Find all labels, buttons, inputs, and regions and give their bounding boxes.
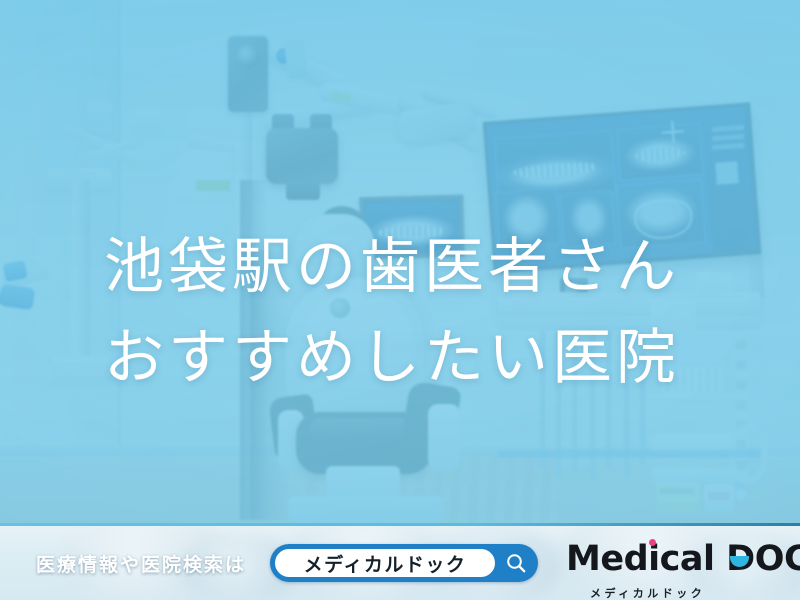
hero-title-line-2: おすすめしたい医院 (104, 313, 724, 404)
logo-wordmark-text: Medical DOC (566, 539, 800, 579)
medical-doc-logo[interactable]: Medical DOC メディカルドック (566, 542, 782, 594)
search-input[interactable]: メディカルドック (273, 547, 497, 579)
logo-kana: メディカルドック (590, 585, 782, 600)
logo-accent-dot-icon (649, 539, 656, 546)
hero-title-line-1: 池袋駅の歯医者さん (104, 222, 724, 313)
search-input-value: メディカルドック (304, 550, 467, 577)
search-pill[interactable]: メディカルドック (270, 544, 538, 582)
footer-bar: 医療情報や医院検索は メディカルドック Medical DOC (0, 523, 800, 600)
banner-canvas: 池袋駅の歯医者さん おすすめしたい医院 医療情報や医院検索は メディカルドック (0, 0, 800, 600)
footer-lead-text: 医療情報や医院検索は (36, 550, 246, 577)
footer-content: 医療情報や医院検索は メディカルドック Medical DOC (0, 526, 800, 600)
hero-headline: 池袋駅の歯医者さん おすすめしたい医院 (104, 222, 724, 404)
search-icon[interactable] (504, 551, 528, 575)
logo-wordmark: Medical DOC (566, 542, 782, 577)
